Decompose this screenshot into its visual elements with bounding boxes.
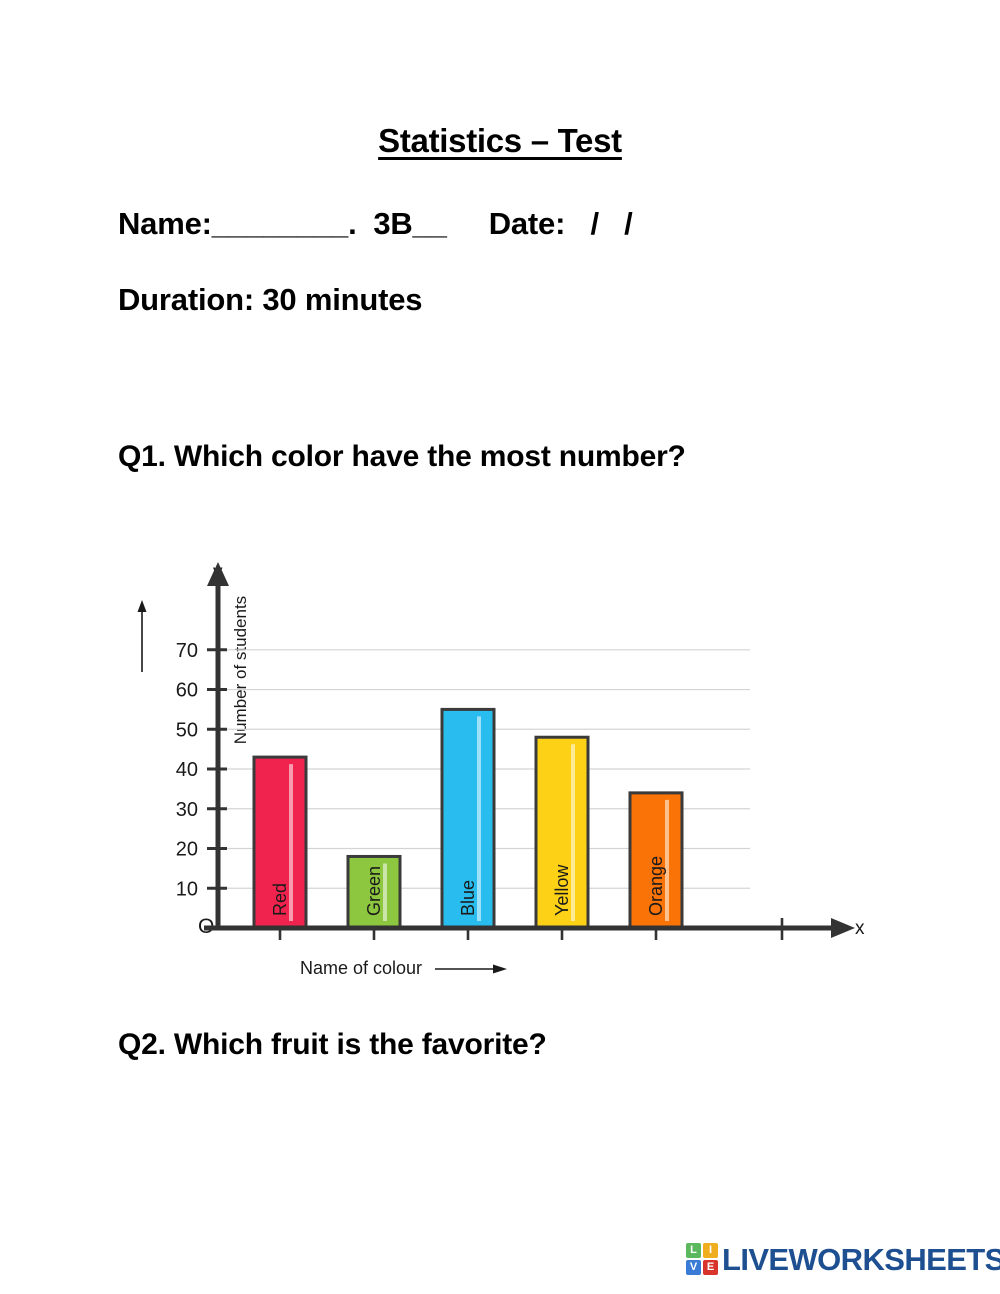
page-title-text: Statistics – Test	[378, 122, 622, 159]
question-2: Q2. Which fruit is the favorite?	[118, 1026, 798, 1064]
bar-orange: Orange	[630, 793, 682, 928]
bar-yellow: Yellow	[536, 737, 588, 928]
bar-label: Green	[364, 866, 384, 916]
y-tick-label: 60	[176, 680, 198, 702]
bar-red: Red	[254, 757, 306, 928]
y-tick-label: 40	[176, 759, 198, 781]
logo-cell-l: L	[686, 1243, 701, 1258]
bar-label: Yellow	[552, 864, 572, 916]
y-tick-label: 20	[176, 839, 198, 861]
bar-label: Red	[270, 883, 290, 916]
worksheet-page: Statistics – Test Name:________. 3B__ Da…	[0, 0, 1000, 1294]
logo-wordmark: LIVEWORKSHEETS	[722, 1244, 1000, 1275]
logo-cell-e: E	[703, 1260, 718, 1275]
logo-cell-i: I	[703, 1243, 718, 1258]
bar-blue: Blue	[442, 709, 494, 928]
liveworksheets-logo[interactable]: LIVE LIVEWORKSHEETS	[686, 1243, 1000, 1275]
bar-green: Green	[348, 856, 400, 928]
y-tick-label: 70	[176, 640, 198, 662]
logo-cell-v: V	[686, 1260, 701, 1275]
bar-chart-plot: 10203040506070RedGreenBlueYellowOrange	[120, 560, 890, 1000]
question-1: Q1. Which color have the most number?	[118, 438, 798, 476]
bar-label: Orange	[646, 856, 666, 916]
name-date-line: Name:________. 3B__ Date: / /	[118, 206, 633, 242]
y-tick-label: 10	[176, 878, 198, 900]
bar-chart: 10203040506070RedGreenBlueYellowOrange	[120, 560, 890, 1000]
page-title: Statistics – Test	[0, 122, 1000, 160]
live-grid-icon: LIVE	[686, 1243, 718, 1275]
y-tick-label: 30	[176, 799, 198, 821]
bar-label: Blue	[458, 880, 478, 916]
duration-line: Duration: 30 minutes	[118, 282, 422, 318]
y-tick-label: 50	[176, 719, 198, 741]
